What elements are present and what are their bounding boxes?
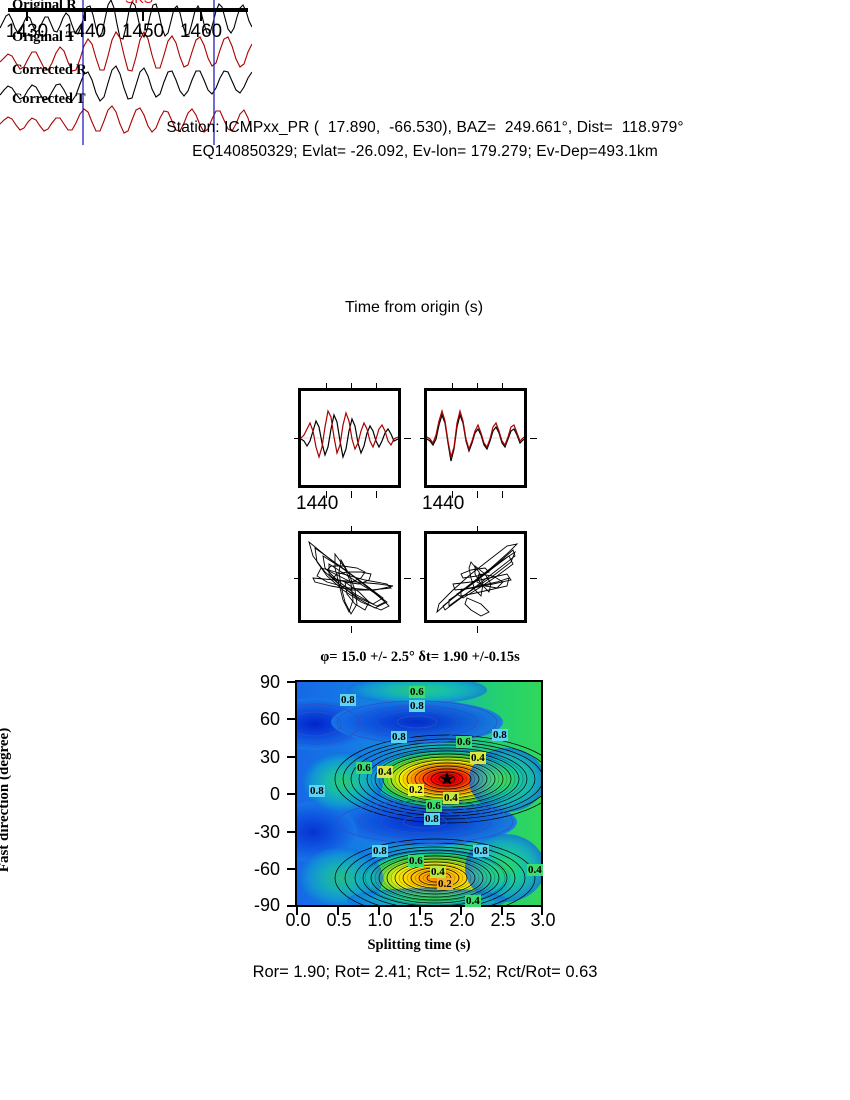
contour-label-9: 0.2 [408,784,424,796]
ylabel-90: 90 [234,672,280,693]
time-tick-1430 [26,12,28,21]
contour-label-0: 0.8 [340,694,356,706]
trace-label-corrected-t: Corrected T [12,91,85,108]
particle-motion-box-corrected [424,531,527,623]
xlabel-05: 0.5 [326,910,351,931]
mini2-tick-left [420,438,427,439]
xlabel-0: 0.0 [285,910,310,931]
figure-footer-stats: Ror= 1.90; Rot= 2.41; Rct= 1.52; Rct/Rot… [0,963,850,982]
xlabel-20: 2.0 [449,910,474,931]
pm1-tick-right [404,578,411,579]
time-tick-1460 [200,12,202,21]
contour-yaxis-title: Fast direction (degree) [0,700,13,900]
mini2-tick-bot-2 [477,491,478,498]
time-axis-line [8,8,248,12]
mini1-tick-right [404,438,411,439]
ylabel-60: 60 [234,709,280,730]
time-tick-1440 [84,12,86,21]
ytick-minus30 [287,831,295,833]
contour-label-7: 0.6 [356,762,372,774]
time-axis-title: Time from origin (s) [283,299,545,317]
xlabel-15: 1.5 [408,910,433,931]
mini1-tick-top-1 [326,383,327,390]
ytick-30 [287,756,295,758]
contour-label-21: 0.4 [465,895,481,907]
pm2-tick-top [477,526,478,533]
contour-label-10: 0.4 [443,792,459,804]
xlabel-30: 3.0 [530,910,555,931]
ytick-60 [287,718,295,720]
ytick-90 [287,681,295,683]
ylabel-30: 30 [234,747,280,768]
ytick-0 [287,793,295,795]
mini2-tick-top-2 [477,383,478,390]
mini2-xlabel: 1440 [422,493,464,515]
contour-plot-title: φ= 15.0 +/- 2.5° δt= 1.90 +/-0.15s [295,649,545,666]
mini1-tick-bot-3 [376,491,377,498]
mini2-tick-top-1 [452,383,453,390]
ylabel-minus30: -30 [228,822,280,843]
mini1-tick-top-3 [376,383,377,390]
figure-header: Station: ICMPxx_PR ( 17.890, -66.530), B… [0,116,850,164]
particle-motion-box-uncorrected [298,531,401,623]
slow-trace-uncorrected [301,411,398,457]
contour-label-8: 0.4 [377,766,393,778]
mini2-tick-right [530,438,537,439]
contour-label-16: 0.8 [473,845,489,857]
mini2-tick-top-3 [502,383,503,390]
contour-label-15: 0.8 [372,845,388,857]
time-label-1430: 1430 [6,21,48,43]
mini1-tick-bot-2 [351,491,352,498]
mini1-tick-top-2 [351,383,352,390]
contour-xaxis-title: Splitting time (s) [295,937,543,954]
contour-label-12: 0.6 [426,800,442,812]
pm1-tick-bot [351,626,352,633]
contour-label-13: 0.8 [424,813,440,825]
contour-label-20: 0.2 [437,878,453,890]
contour-label-4: 0.6 [456,736,472,748]
ylabel-minus60: -60 [228,859,280,880]
pm1-tick-top [351,526,352,533]
ylabel-0: 0 [234,784,280,805]
contour-label-3: 0.8 [391,731,407,743]
header-line-station: Station: ICMPxx_PR ( 17.890, -66.530), B… [0,116,850,140]
pm2-tick-right [530,578,537,579]
contour-label-1: 0.6 [409,686,425,698]
pm2-tick-left [420,578,427,579]
time-label-1460: 1460 [180,21,222,43]
time-label-1450: 1450 [122,21,164,43]
contour-label-18: 0.4 [430,866,446,878]
fast-slow-traces-uncorrected [301,391,398,485]
contour-label-17: 0.6 [408,855,424,867]
particle-motion-corrected [427,534,524,620]
mini2-tick-bot-3 [502,491,503,498]
time-label-1440: 1440 [64,21,106,43]
ytick-minus90 [287,905,295,907]
time-tick-1450 [142,12,144,21]
fast-slow-waveform-box-corrected [424,388,527,488]
trace-label-corrected-r: Corrected R [12,62,86,79]
xlabel-10: 1.0 [367,910,392,931]
contour-label-11: 0.8 [309,785,325,797]
ylabel-minus90: -90 [228,895,280,916]
pm1-tick-left [294,578,301,579]
mini1-xlabel: 1440 [296,493,338,515]
sks-phase-label: SKS [125,0,153,6]
header-line-event: EQ140850329; Evlat= -26.092, Ev-lon= 179… [0,140,850,164]
pm2-tick-bot [477,626,478,633]
contour-label-5: 0.8 [492,729,508,741]
fast-slow-traces-corrected [427,391,524,485]
contour-label-2: 0.8 [409,700,425,712]
contour-label-19: 0.4 [527,864,543,876]
fast-slow-waveform-box-uncorrected [298,388,401,488]
xlabel-25: 2.5 [490,910,515,931]
particle-motion-uncorrected [301,534,398,620]
mini1-tick-left [294,438,301,439]
ytick-minus60 [287,868,295,870]
contour-label-6: 0.4 [470,752,486,764]
